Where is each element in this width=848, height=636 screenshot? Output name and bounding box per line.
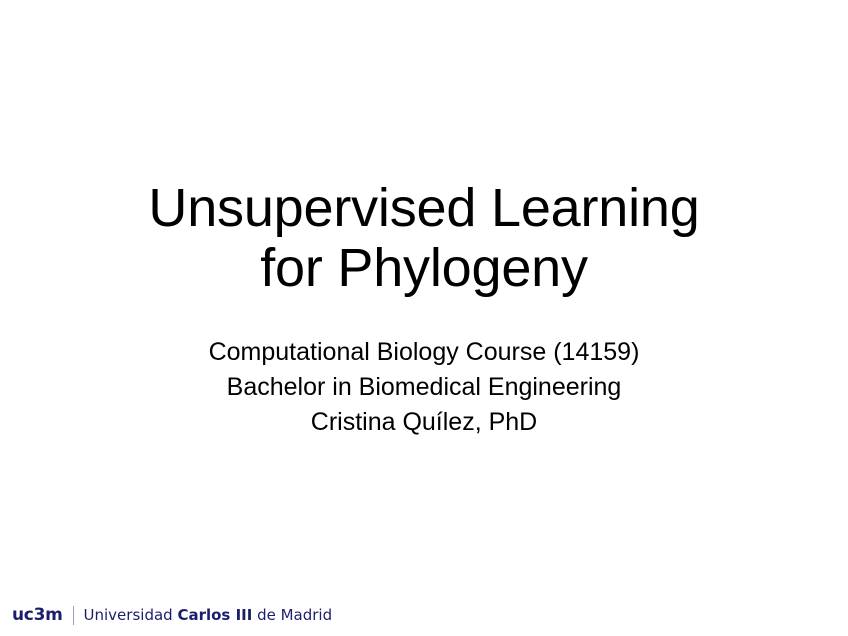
- subtitle-line-author: Cristina Quílez, PhD: [0, 405, 848, 440]
- institution-name-part3: de Madrid: [252, 606, 332, 624]
- title-line-2: for Phylogeny: [0, 238, 848, 298]
- subtitle-line-program: Bachelor in Biomedical Engineering: [0, 370, 848, 405]
- slide-footer: uc3m Universidad Carlos III de Madrid: [12, 602, 332, 628]
- subtitle-line-course: Computational Biology Course (14159): [0, 335, 848, 370]
- slide-subtitle: Computational Biology Course (14159) Bac…: [0, 335, 848, 440]
- uc3m-logo: uc3m: [12, 605, 63, 625]
- title-line-1: Unsupervised Learning: [0, 178, 848, 238]
- institution-name-part2: Carlos III: [177, 606, 252, 624]
- institution-name-part1: Universidad: [84, 606, 178, 624]
- slide-title: Unsupervised Learning for Phylogeny: [0, 178, 848, 298]
- institution-name: Universidad Carlos III de Madrid: [84, 605, 333, 625]
- footer-divider: [73, 606, 74, 625]
- presentation-slide: Unsupervised Learning for Phylogeny Comp…: [0, 0, 848, 636]
